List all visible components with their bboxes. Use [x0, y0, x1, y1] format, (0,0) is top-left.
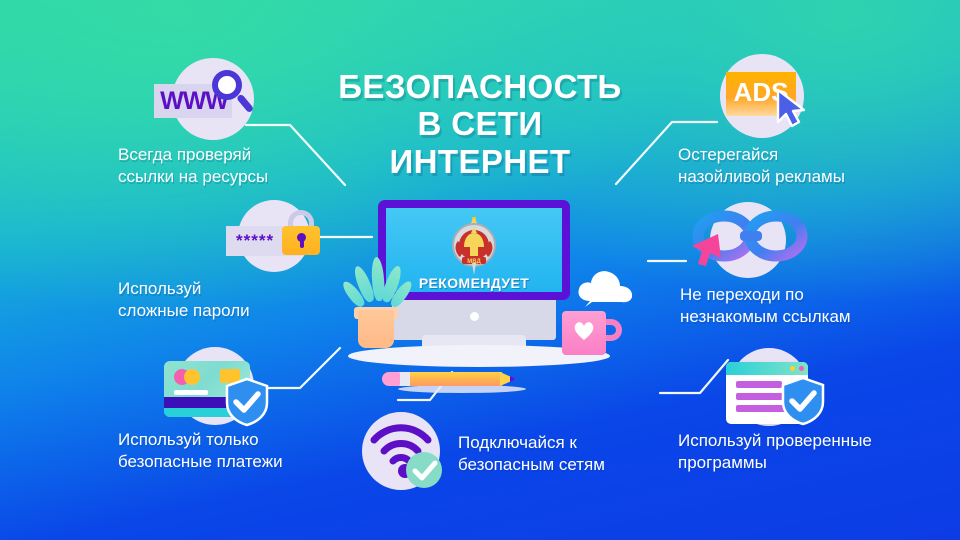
speech-cloud-icon [574, 265, 636, 307]
shield-check-icon [224, 377, 270, 427]
password-mask-label: ***** [236, 231, 274, 251]
browser-window-shield-icon [720, 348, 900, 426]
shield-check-icon [780, 376, 826, 426]
mouse-cursor-icon [774, 88, 814, 130]
pencil-icon [382, 372, 522, 386]
item-safe-payments: Используй только безопасные платежи [118, 345, 342, 474]
caption-check-links: Всегда проверяй ссылки на ресурсы [118, 144, 302, 189]
infographic-poster: БЕЗОПАСНОСТЬ В СЕТИ ИНТЕРНЕТ WWW Всегда … [0, 0, 960, 540]
www-search-icon: WWW [152, 58, 302, 140]
page-title: БЕЗОПАСНОСТЬ В СЕТИ ИНТЕРНЕТ [300, 68, 660, 180]
caption-unknown-links: Не переходи по незнакомым ссылкам [680, 284, 858, 329]
monitor-power-dot [470, 312, 479, 321]
credit-card-shield-icon [162, 345, 342, 425]
item-check-links: WWW Всегда проверяй ссылки на ресурсы [118, 58, 302, 189]
heart-icon [573, 321, 595, 341]
desk-scene: МВД РЕКОМЕНДУЕТ [330, 195, 630, 395]
item-beware-ads: ADS Остерегайся назойливой рекламы [678, 52, 870, 189]
screen-label: РЕКОМЕНДУЕТ [386, 275, 562, 291]
caption-trusted-software: Используй проверенные программы [678, 430, 900, 475]
caption-beware-ads: Остерегайся назойливой рекламы [678, 144, 870, 189]
mvd-emblem: МВД [448, 217, 500, 275]
ads-banner-icon: ADS [720, 52, 870, 140]
item-trusted-software: Используй проверенные программы [678, 348, 900, 475]
pink-cursor-icon [688, 230, 728, 272]
broken-chain-link-icon [688, 202, 858, 278]
item-unknown-links: Не переходи по незнакомым ссылкам [680, 202, 858, 329]
caption-safe-payments: Используй только безопасные платежи [118, 429, 342, 474]
check-icon [412, 460, 438, 482]
caption-safe-networks: Подключайся к безопасным сетям [458, 432, 605, 477]
item-safe-networks: Подключайся к безопасным сетям [362, 412, 652, 496]
wifi-check-icon [362, 412, 446, 496]
